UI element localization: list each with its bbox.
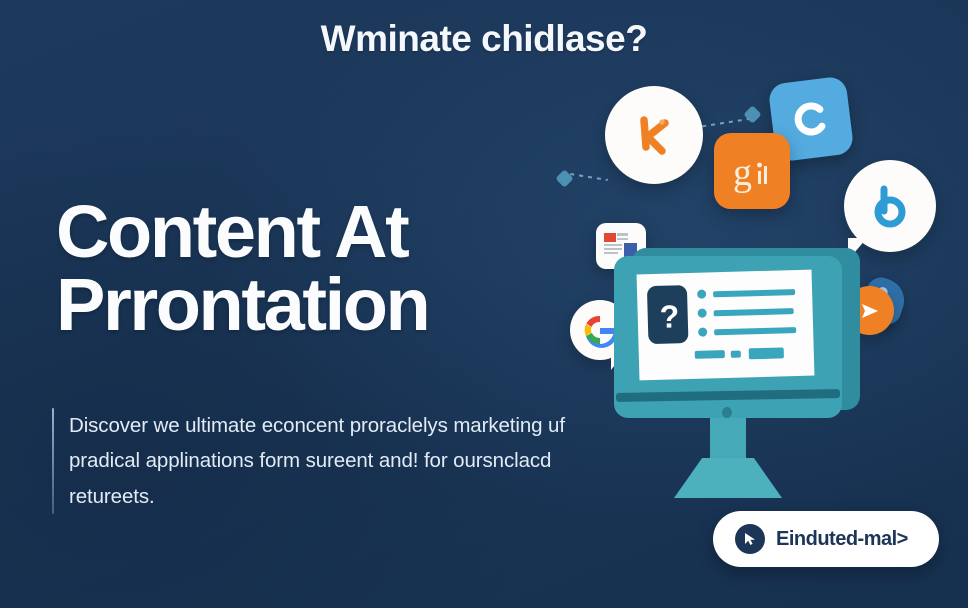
letter-g-icon: g	[724, 143, 780, 199]
monitor-stand-base	[674, 458, 782, 498]
desktop-monitor: ?	[614, 248, 866, 530]
screen-chip	[731, 351, 741, 358]
screen-placeholder-block: ?	[647, 285, 689, 344]
headline-line-2: Prrontation	[56, 268, 576, 341]
cta-label: Einduted-mal>	[776, 528, 908, 551]
monitor-power-dot	[722, 407, 732, 418]
body-text: Discover we ultimate econcent proraclely…	[69, 408, 572, 514]
question-mark-icon: ?	[647, 285, 689, 344]
headline-line-1: Content At	[56, 190, 407, 273]
accent-rule	[52, 408, 54, 514]
monitor-screen: ?	[637, 270, 815, 381]
google-g-icon	[582, 312, 618, 348]
connector-node-right	[743, 105, 761, 123]
promo-banner: g	[0, 0, 968, 608]
screen-bullet	[698, 309, 707, 318]
letter-b-icon	[864, 180, 916, 232]
screen-bullet	[697, 290, 706, 299]
letter-c-icon	[785, 93, 836, 144]
screen-line	[713, 289, 795, 297]
kik-badge[interactable]	[605, 86, 703, 184]
screen-line	[714, 327, 796, 335]
kik-glyph-icon	[626, 107, 682, 163]
page-title: Content At Prrontation	[56, 195, 576, 342]
kicker-text: Wminate chidlase?	[0, 18, 968, 60]
hero-illustration: g	[548, 60, 968, 530]
connector-line-left	[570, 173, 608, 181]
body-block: Discover we ultimate econcent proraclely…	[52, 408, 572, 514]
cursor-arrow-icon	[735, 524, 765, 554]
svg-text:?: ?	[659, 298, 680, 335]
connector-node-left	[555, 169, 573, 187]
screen-bullet	[698, 328, 707, 337]
google-g-orange-badge[interactable]: g	[714, 133, 790, 209]
screen-chip	[749, 347, 784, 359]
monitor-stand-neck	[710, 418, 746, 460]
screen-chip	[695, 350, 725, 359]
cta-button[interactable]: Einduted-mal>	[713, 511, 939, 567]
svg-text:g: g	[733, 152, 752, 194]
screen-line	[714, 308, 794, 316]
